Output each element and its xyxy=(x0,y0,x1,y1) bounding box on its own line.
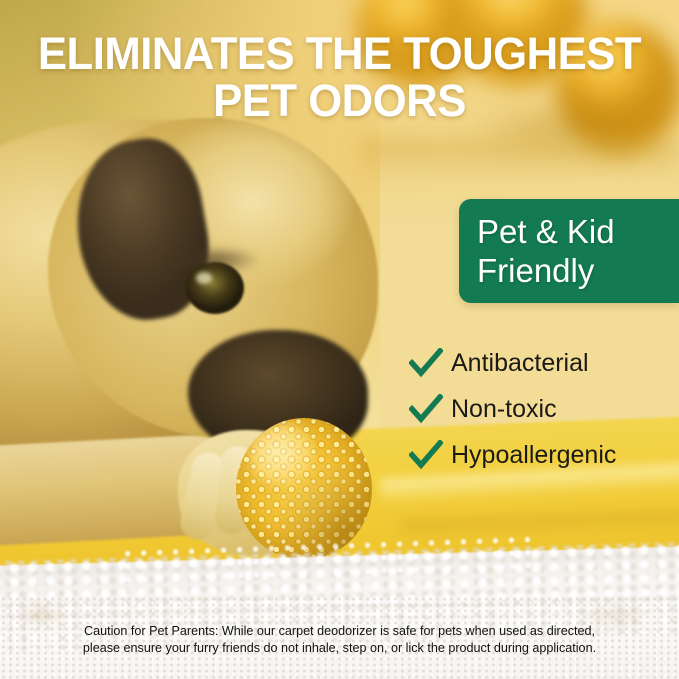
background-surface-line xyxy=(360,138,679,182)
list-item: Non-toxic xyxy=(409,386,679,432)
check-icon xyxy=(409,440,443,470)
check-icon xyxy=(409,394,443,424)
list-item: Hypoallergenic xyxy=(409,432,679,478)
page-title: ELIMINATES THE TOUGHEST PET ODORS xyxy=(10,30,669,124)
list-item: Antibacterial xyxy=(409,340,679,386)
check-icon xyxy=(409,348,443,378)
dog-eye xyxy=(186,262,244,314)
headline-line-2: PET ODORS xyxy=(10,77,669,124)
headline-line-1: ELIMINATES THE TOUGHEST xyxy=(10,30,669,77)
feature-label: Hypoallergenic xyxy=(451,442,616,469)
feature-label: Non-toxic xyxy=(451,396,557,423)
badge-text: Pet & Kid Friendly xyxy=(477,212,667,290)
feature-label: Antibacterial xyxy=(451,350,589,377)
feature-list: Antibacterial Non-toxic Hypoallergenic xyxy=(409,340,679,478)
dog-eye-glint xyxy=(196,272,212,284)
product-marketing-image: ELIMINATES THE TOUGHEST PET ODORS Pet & … xyxy=(0,0,679,679)
status-badge: Pet & Kid Friendly xyxy=(459,199,679,303)
caution-line-2: please ensure your furry friends do not … xyxy=(0,640,679,657)
caution-note: Caution for Pet Parents: While our carpe… xyxy=(0,623,679,657)
badge-line-2: Friendly xyxy=(477,251,667,290)
badge-line-1: Pet & Kid xyxy=(477,212,667,251)
caution-line-1: Caution for Pet Parents: While our carpe… xyxy=(0,623,679,640)
